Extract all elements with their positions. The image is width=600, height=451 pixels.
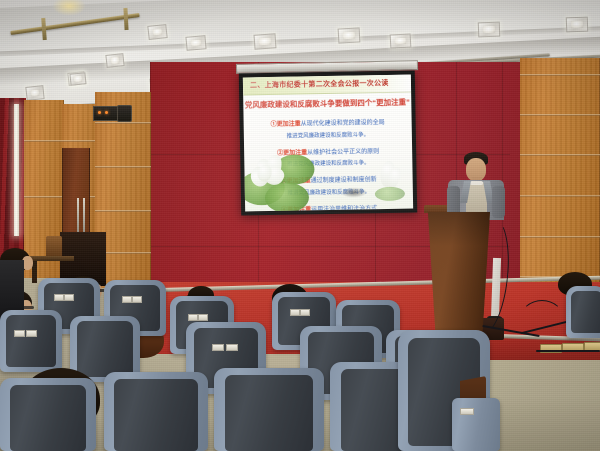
speaker-arm-right: [492, 186, 505, 218]
recessed-light-icon: [147, 24, 167, 40]
recessed-light-icon: [566, 17, 589, 33]
wall-light-strip: [14, 104, 19, 236]
seat-r2-c2[interactable]: [104, 372, 208, 451]
bullet-text: 运用法治思维和法治方式: [311, 206, 377, 212]
seat-r2-c1[interactable]: [0, 378, 96, 451]
floor-cable-loop: [520, 300, 564, 338]
conference-hall-photo: 二、上海市纪委十第二次全会公报一次公读 党风廉政建设和反腐败斗争要做到四个“更加…: [0, 0, 600, 451]
left-curtain: [0, 98, 26, 273]
slide-bullet-list: ①更加注重从现代化建设和党的建设的全局 推进党风廉政建设和反腐败斗争。 ②更加注…: [243, 111, 413, 212]
recessed-light-icon: [254, 33, 277, 49]
slide-bullet-4: ④更加注重运用法治思维和法治方式 推进党风廉政建设和反腐败斗争。: [245, 196, 413, 211]
slide-footer-smudge: [341, 187, 367, 197]
presentation-slide: 二、上海市纪委十第二次全会公报一次公读 党风廉政建设和反腐败斗争要做到四个“更加…: [243, 75, 413, 212]
recessed-light-icon: [69, 72, 86, 86]
side-table: [46, 236, 62, 258]
slide-header-bar: 二、上海市纪委十第二次全会公报一次公读: [243, 75, 411, 96]
bullet-sub: 推进党风廉政建设和反腐败斗争。: [244, 158, 412, 169]
seat-r1-right-lower[interactable]: [452, 398, 500, 451]
recessed-light-icon: [390, 33, 412, 48]
bullet-lead: 更加注重: [287, 178, 311, 184]
recessed-light-icon: [338, 27, 361, 43]
recessed-light-icon: [478, 22, 501, 38]
bullet-lead: 更加注重: [283, 150, 307, 156]
bullet-lead: 更加注重: [277, 121, 301, 127]
bullet-text: 从维护社会公平正义的原则: [307, 149, 379, 156]
speaker-shirt-collar: [470, 181, 483, 185]
slide-bullet-3: ③更加注重通过制度建设和制度创新 推进党风廉政建设和反腐败斗争。: [244, 168, 412, 197]
door-handle-a[interactable]: [77, 198, 79, 236]
projection-screen: 二、上海市纪委十第二次全会公报一次公读 党风廉政建设和反腐败斗争要做到四个“更加…: [239, 70, 417, 215]
slide-title-text: 党风廉政建设和反腐败斗争要做到四个“更加注重”: [243, 97, 411, 111]
bullet-sub: 推进党风廉政建设和反腐败斗争。: [245, 186, 413, 197]
seat-far-right[interactable]: [566, 286, 600, 338]
bullet-text: 通过制度建设和制度创新: [311, 177, 377, 184]
speaker-bracket: [117, 105, 132, 122]
bullet-sub: 推进党风廉政建设和反腐败斗争。: [244, 129, 412, 140]
recessed-light-icon: [185, 35, 206, 51]
seat-r3-c1[interactable]: [0, 310, 62, 372]
slide-header-text: 二、上海市纪委十第二次全会公报一次公读: [250, 78, 389, 90]
power-strip-cable: [536, 350, 600, 352]
bullet-text: 从现代化建设和党的建设的全局: [301, 120, 385, 127]
slide-bullet-2: ②更加注重从维护社会公平正义的原则 推进党风廉政建设和反腐败斗争。: [244, 139, 412, 168]
bullet-lead: 更加注重: [287, 207, 311, 212]
recessed-light-icon: [25, 85, 44, 101]
seat-r2-c3[interactable]: [214, 368, 324, 451]
recessed-light-icon: [105, 53, 124, 68]
door-handle-b[interactable]: [83, 198, 85, 236]
slide-bullet-1: ①更加注重从现代化建设和党的建设的全局 推进党风廉政建设和反腐败斗争。: [243, 111, 411, 140]
loudspeaker-icon: [93, 106, 119, 121]
